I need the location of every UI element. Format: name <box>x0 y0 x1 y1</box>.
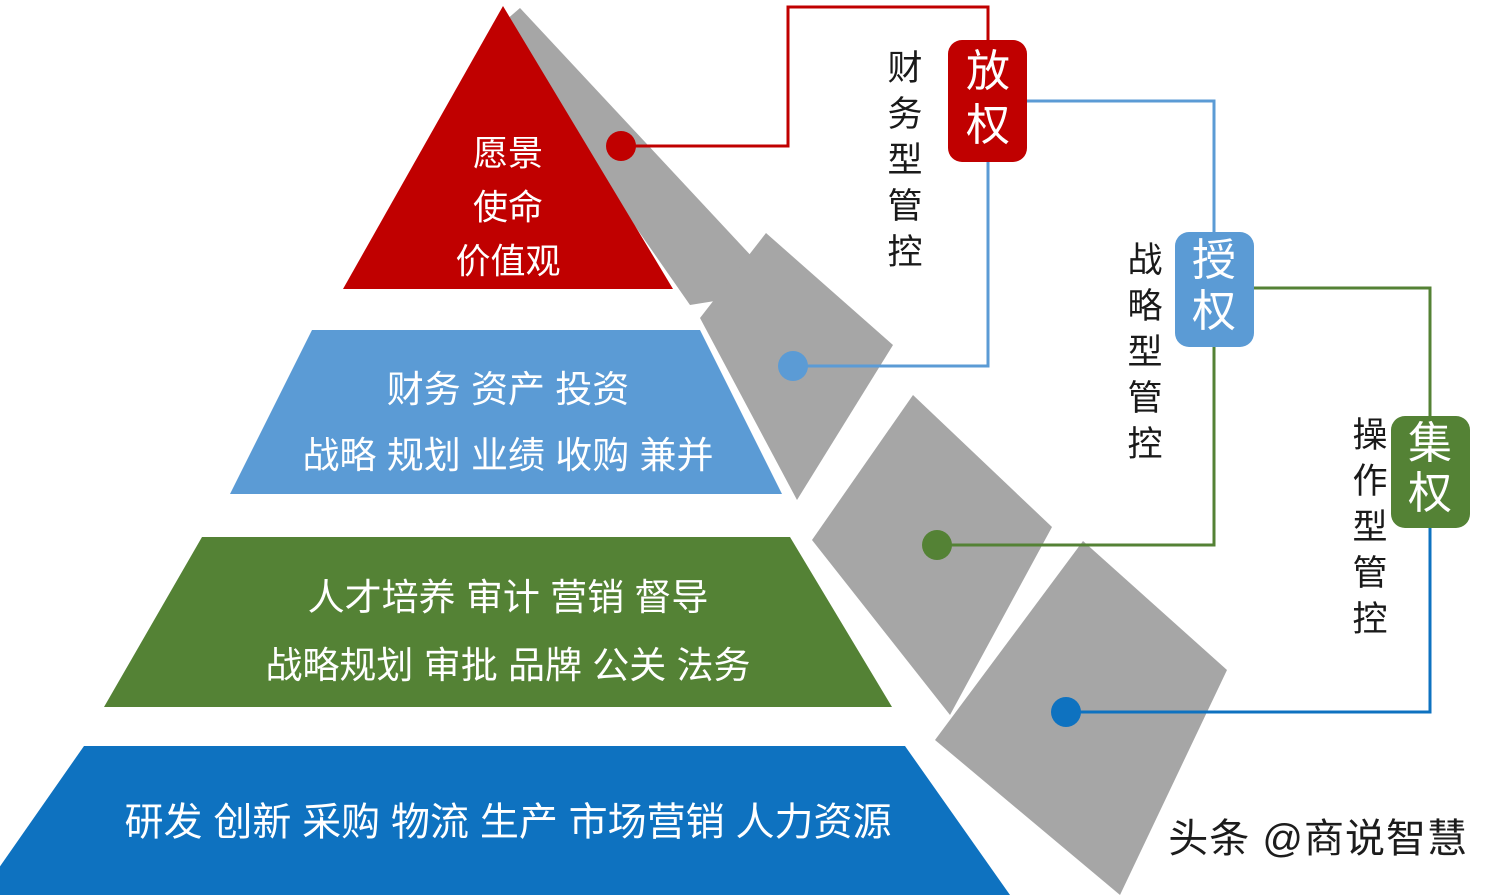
level4-line-1: 研发 创新 采购 物流 生产 市场营销 人力资源 <box>124 801 891 844</box>
badge-jiquan-char-1: 权 <box>1408 469 1452 518</box>
badge-fangquan-char-0: 放 <box>966 47 1010 96</box>
vlabel-strategy-char-2: 型 <box>1127 333 1162 372</box>
vlabel-strategy-char-0: 战 <box>1127 241 1162 280</box>
vlabel-finance-char-0: 财 <box>887 49 922 88</box>
apex-line-3: 价值观 <box>455 242 560 281</box>
level3-line-2: 战略规划 审批 品牌 公关 法务 <box>265 645 750 686</box>
connector-dot-strategy[interactable] <box>778 351 808 381</box>
diagram-canvas: 愿景 使命 价值观 财务 资产 投资 战略 规划 业绩 收购 兼并 人才培养 审… <box>0 0 1492 895</box>
badge-jiquan-char-0: 集 <box>1408 419 1452 468</box>
badge-shouquan-char-0: 授 <box>1192 236 1236 285</box>
connector-dot-finance[interactable] <box>606 131 636 161</box>
level2-line-1: 财务 资产 投资 <box>387 369 630 410</box>
badge-fangquan[interactable]: 放 权 <box>948 40 1027 162</box>
vlabel-finance-char-1: 务 <box>887 95 922 134</box>
level3-line-1: 人才培养 审计 营销 督导 <box>308 577 709 618</box>
pyramid-control-diagram: 愿景 使命 价值观 财务 资产 投资 战略 规划 业绩 收购 兼并 人才培养 审… <box>0 0 1492 895</box>
vlabel-operation-char-0: 操 <box>1352 416 1387 455</box>
vlabel-operation-char-4: 控 <box>1352 600 1387 639</box>
connector-badge-strategy-to-operation <box>1253 288 1430 416</box>
badge-fangquan-char-1: 权 <box>966 101 1010 150</box>
vlabel-operation-char-2: 型 <box>1352 508 1387 547</box>
vlabel-strategy-char-4: 控 <box>1127 425 1162 464</box>
level2-line-2: 战略 规划 业绩 收购 兼并 <box>302 435 713 476</box>
vlabel-finance-char-3: 管 <box>887 187 922 226</box>
badge-shouquan[interactable]: 授 权 <box>1175 232 1254 347</box>
vlabel-finance-char-2: 型 <box>887 141 922 180</box>
vlabel-finance: 财 务 型 管 控 <box>887 49 922 272</box>
vlabel-finance-char-4: 控 <box>887 233 922 272</box>
connector-dot-bottom[interactable] <box>1051 697 1081 727</box>
vlabel-operation-char-3: 管 <box>1352 554 1387 593</box>
vlabel-operation: 操 作 型 管 控 <box>1352 416 1387 639</box>
mode-badges: 放 权 授 权 集 权 <box>948 40 1470 528</box>
watermark-label: 头条 @商说智慧 <box>1168 817 1468 861</box>
connector-finance <box>621 7 988 146</box>
vlabel-operation-char-1: 作 <box>1352 462 1387 501</box>
badge-shouquan-char-1: 权 <box>1192 287 1236 336</box>
apex-line-2: 使命 <box>473 188 543 227</box>
vlabel-strategy-char-3: 管 <box>1127 379 1162 418</box>
connector-dot-operation[interactable] <box>922 530 952 560</box>
vlabel-strategy: 战 略 型 管 控 <box>1127 241 1162 464</box>
pyramid-tiers: 愿景 使命 价值观 财务 资产 投资 战略 规划 业绩 收购 兼并 人才培养 审… <box>0 6 1010 895</box>
apex-line-1: 愿景 <box>473 134 543 173</box>
vlabel-strategy-char-1: 略 <box>1127 287 1162 326</box>
badge-jiquan[interactable]: 集 权 <box>1391 416 1470 528</box>
connector-badge-finance-to-strategy <box>1027 101 1214 232</box>
